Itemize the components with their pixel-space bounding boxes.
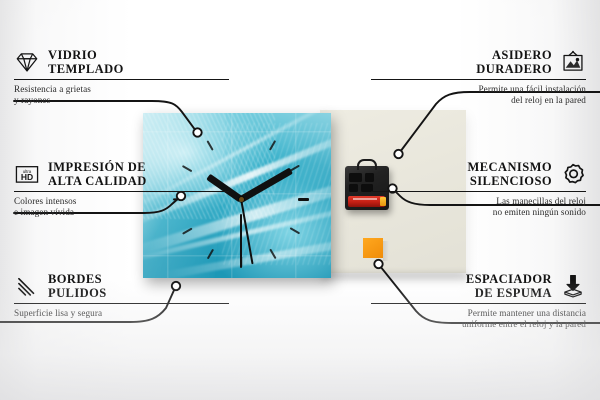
- feature-impresion-alta-calidad: ultra HD IMPRESIÓN DE ALTA CALIDAD Color…: [14, 160, 229, 218]
- feature-header: VIDRIO TEMPLADO: [14, 48, 229, 76]
- feature-rule: [14, 191, 229, 192]
- feature-description: Las manecillas del reloj no emiten ningú…: [371, 196, 586, 218]
- wall-hanger-frame-icon: [560, 49, 586, 75]
- feature-title: ASIDERO DURADERO: [476, 48, 552, 76]
- foam-spacer: [363, 238, 383, 258]
- feature-rule: [371, 191, 586, 192]
- ultra-hd-icon: ultra HD: [14, 161, 40, 187]
- feature-espaciador-de-espuma: ESPACIADOR DE ESPUMA Permite mantener un…: [371, 272, 586, 330]
- feature-desc-line1: Las manecillas del reloj: [371, 196, 586, 207]
- feature-desc-line1: Permite una fácil instalación: [371, 84, 586, 95]
- foam-spacer-side: [383, 241, 389, 261]
- feature-title-line1: MECANISMO: [468, 160, 553, 174]
- feature-rule: [14, 303, 229, 304]
- feature-header: ultra HD IMPRESIÓN DE ALTA CALIDAD: [14, 160, 229, 188]
- feature-rule: [371, 79, 586, 80]
- feature-mecanismo-silencioso: MECANISMO SILENCIOSO Las manecillas del …: [371, 160, 586, 218]
- feature-desc-line2: no emiten ningún sonido: [371, 207, 586, 218]
- feature-header: ASIDERO DURADERO: [371, 48, 586, 76]
- feature-title-line1: ESPACIADOR: [466, 272, 552, 286]
- feature-rule: [14, 79, 229, 80]
- feature-title-line2: DURADERO: [476, 62, 552, 76]
- feature-title: IMPRESIÓN DE ALTA CALIDAD: [48, 160, 147, 188]
- feature-desc-line1: Permite mantener una distancia: [371, 308, 586, 319]
- feature-title-line1: ASIDERO: [476, 48, 552, 62]
- feature-desc-line1: Resistencia a grietas: [14, 84, 229, 95]
- feature-description: Permite mantener una distancia uniforme …: [371, 308, 586, 330]
- feature-desc-line2: del reloj en la pared: [371, 95, 586, 106]
- feature-title-line2: PULIDOS: [48, 286, 107, 300]
- feature-desc-line2: uniforme entre el reloj y la pared: [371, 319, 586, 330]
- feature-bordes-pulidos: BORDES PULIDOS Superficie lisa y segura: [14, 272, 229, 319]
- gear-icon: [560, 161, 586, 187]
- feature-title-line2: ALTA CALIDAD: [48, 174, 147, 188]
- feature-description: Permite una fácil instalación del reloj …: [371, 84, 586, 106]
- feature-title: MECANISMO SILENCIOSO: [468, 160, 553, 188]
- diamond-icon: [14, 49, 40, 75]
- feature-title-line2: DE ESPUMA: [466, 286, 552, 300]
- down-arrow-pad-icon: [560, 273, 586, 299]
- clock-hub: [239, 197, 244, 202]
- mechanism-detail: [349, 184, 358, 192]
- feature-title: VIDRIO TEMPLADO: [48, 48, 124, 76]
- mechanism-detail: [349, 173, 362, 182]
- feature-title-line2: SILENCIOSO: [468, 174, 553, 188]
- polished-edges-icon: [14, 273, 40, 299]
- feature-title-line1: BORDES: [48, 272, 107, 286]
- feature-vidrio-templado: VIDRIO TEMPLADO Resistencia a grietas y …: [14, 48, 229, 106]
- feature-desc-line1: Superficie lisa y segura: [14, 308, 229, 319]
- feature-title-line1: IMPRESIÓN DE: [48, 160, 147, 174]
- feature-header: ESPACIADOR DE ESPUMA: [371, 272, 586, 300]
- feature-title: ESPACIADOR DE ESPUMA: [466, 272, 552, 300]
- ultra-hd-icon-main-text: HD: [21, 172, 33, 182]
- feature-title: BORDES PULIDOS: [48, 272, 107, 300]
- feature-header: MECANISMO SILENCIOSO: [371, 160, 586, 188]
- feature-desc-line2: y rayones: [14, 95, 229, 106]
- feature-description: Superficie lisa y segura: [14, 308, 229, 319]
- feature-description: Colores intensos e imagen vívida: [14, 196, 229, 218]
- feature-desc-line1: Colores intensos: [14, 196, 229, 207]
- feature-desc-line2: e imagen vívida: [14, 207, 229, 218]
- feature-description: Resistencia a grietas y rayones: [14, 84, 229, 106]
- feature-rule: [371, 303, 586, 304]
- infographic-canvas: VIDRIO TEMPLADO Resistencia a grietas y …: [0, 0, 600, 400]
- feature-title-line2: TEMPLADO: [48, 62, 124, 76]
- feature-title-line1: VIDRIO: [48, 48, 124, 62]
- feature-header: BORDES PULIDOS: [14, 272, 229, 300]
- clock-tick: [240, 214, 242, 268]
- feature-asidero-duradero: ASIDERO DURADERO Permite una fácil insta…: [371, 48, 586, 106]
